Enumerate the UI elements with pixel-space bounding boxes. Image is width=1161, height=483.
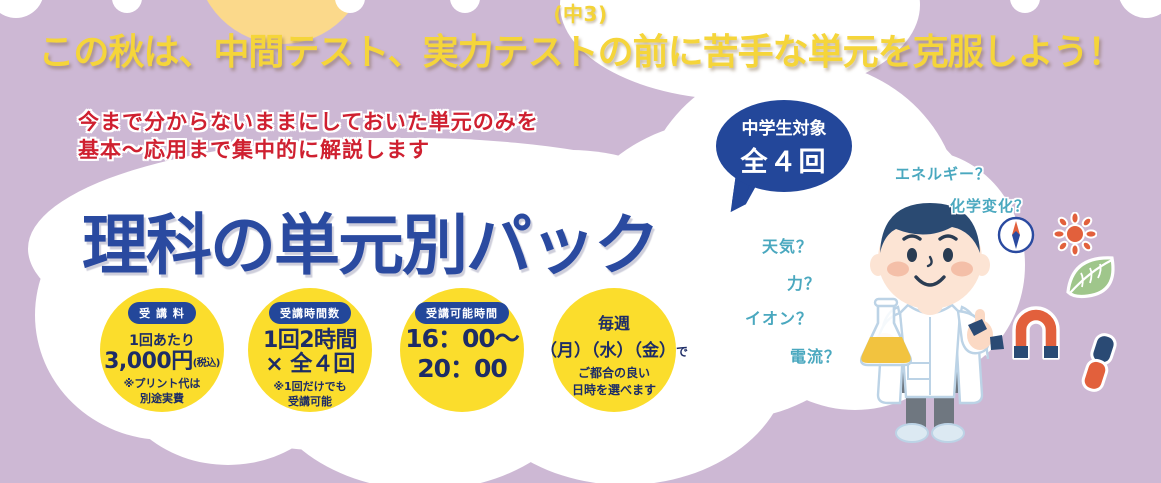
badge-line-1: 中学生対象 — [742, 114, 827, 139]
hours-note-1: ※1回だけでも — [273, 380, 346, 395]
subject-label-force: 力？ — [787, 270, 821, 294]
info-circle-weekly-schedule: 毎週 （月）（水）（金）で ご都合の良い 日時を選べます — [552, 288, 676, 412]
circle-pill-label: 受講時間数 — [269, 302, 351, 324]
info-circle-available-time: 受講可能時間 16：00〜 20：00 — [400, 288, 524, 412]
compass-icon — [996, 215, 1036, 255]
hours-line-1: 1回2時間 — [263, 329, 357, 353]
hours-note-2: 受講可能 — [288, 395, 332, 410]
bar-magnet-icon — [1079, 330, 1119, 396]
subtitle-block: 今まで分からないままにしておいた単元のみを 基本〜応用まで集中的に解説します — [78, 108, 539, 165]
sun-icon — [1053, 212, 1097, 256]
circle-pill-label: 受 講 料 — [128, 302, 196, 324]
time-end: 20：00 — [417, 354, 507, 384]
subtitle-line-1: 今まで分からないままにしておいた単元のみを — [78, 108, 539, 136]
info-circle-fee: 受 講 料 1回あたり 3,000円(税込) ※プリント代は 別途実費 — [100, 288, 224, 412]
weekly-note-1: ご都合の良い — [578, 365, 650, 382]
hours-line-2: × 全４回 — [265, 353, 355, 377]
subtitle-line-2: 基本〜応用まで集中的に解説します — [78, 136, 539, 164]
leaf-icon — [1062, 252, 1118, 302]
fee-note-2: 別途実費 — [140, 392, 184, 407]
horseshoe-magnet-icon — [1006, 300, 1066, 362]
fee-tax-note: (税込) — [193, 358, 220, 369]
subject-label-current: 電流？ — [790, 343, 841, 367]
subject-label-chemistry: 化学変化？ — [950, 195, 1030, 216]
page-title: 理科の単元別パック — [82, 192, 658, 288]
weekly-line-2: （月）（水）（金）で — [540, 336, 688, 361]
promo-banner: (中3) この秋は、中間テスト、実力テストの前に苦手な単元を克服しよう！ 今まで… — [0, 0, 1161, 483]
fee-amount: 3,000円(税込) — [104, 350, 220, 374]
badge-line-2: 全４回 — [741, 140, 828, 179]
info-circle-hours: 受講時間数 1回2時間 × 全４回 ※1回だけでも 受講可能 — [248, 288, 372, 412]
weekly-note-2: 日時を選べます — [572, 382, 656, 399]
weekly-line-1: 毎週 — [598, 310, 630, 334]
headline-text: この秋は、中間テスト、実力テストの前に苦手な単元を克服しよう！ — [0, 23, 1161, 75]
fee-note-1: ※プリント代は — [124, 377, 201, 392]
subject-label-weather: 天気？ — [762, 233, 813, 257]
subject-label-ion: イオン？ — [745, 305, 813, 329]
subject-label-energy: エネルギー？ — [895, 163, 991, 184]
time-start: 16：00〜 — [405, 324, 519, 354]
course-count-badge: 中学生対象 全４回 — [716, 100, 852, 192]
fee-per-session-label: 1回あたり — [129, 330, 195, 350]
circle-pill-label: 受講可能時間 — [415, 302, 509, 324]
